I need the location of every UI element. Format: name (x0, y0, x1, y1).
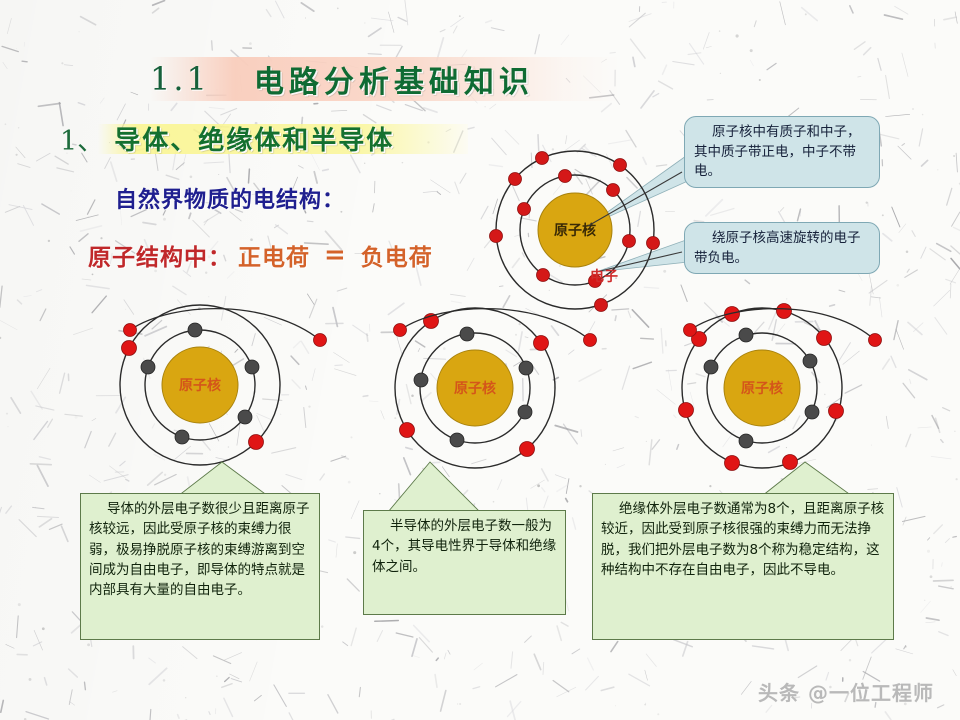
free-electron-path-left (130, 309, 320, 340)
equation-right-term: 负电荷 (361, 238, 433, 272)
orbit-inner (420, 333, 530, 443)
callout-nucleus-text: 原子核中有质子和中子，其中质子带正电，中子不带电。 (694, 123, 870, 182)
orbit-outer (682, 308, 842, 468)
subtitle-text: 自然界物质的电结构： (115, 182, 345, 214)
electron-label: 电子 (590, 266, 618, 286)
title-number: 1.1 (150, 60, 210, 98)
callout-electron-text: 绕原子核高速旋转的电子带负电。 (694, 229, 870, 268)
nucleus-label-top: 原子核 (554, 222, 596, 239)
watermark: 头条 @一位工程师 (758, 677, 934, 706)
free-electron-right-end (869, 334, 882, 347)
heading-text: 导体、绝缘体和半导体 (114, 120, 394, 157)
free-electron-mid-start (394, 324, 407, 337)
free-electron-right-start (684, 324, 697, 337)
orbit-outer (496, 151, 654, 309)
inner-electrons-insulator (704, 328, 819, 448)
callout-insulator-text: 绝缘体外层电子数通常为8个，且距离原子核较近，因此受到原子核很强的束缚力而无法挣… (601, 499, 885, 580)
atom-insulator: 原子核 (679, 304, 844, 471)
free-electron-mid-end (584, 334, 597, 347)
outer-electrons-insulator (679, 304, 844, 471)
outer-electrons-top (490, 152, 660, 312)
pointer-line-nucleus (588, 172, 682, 226)
callout-conductor-note[interactable]: 导体的外层电子数很少且距离原子核较远，因此受原子核的束缚力很弱，极易挣脱原子核的… (80, 493, 320, 640)
equation-prefix: 原子结构中： (88, 238, 232, 272)
nucleus-label-conductor: 原子核 (179, 377, 221, 394)
callout-leader-nucleus (588, 156, 690, 226)
free-electron-path-right (690, 309, 875, 340)
page-title: 1.1 电路分析基础知识 (150, 55, 670, 103)
callout-tail-conductor (178, 462, 268, 496)
outer-electrons-semiconductor (400, 314, 549, 457)
orbit-outer (120, 305, 280, 465)
equation-equals-sign: = (316, 240, 355, 270)
title-text: 电路分析基础知识 (254, 57, 534, 101)
atom-conductor: 原子核 (120, 305, 280, 465)
equation-left-term: 正电荷 (238, 238, 310, 272)
inner-electrons-semiconductor (414, 327, 533, 447)
charge-equation: 原子结构中： 正电荷 = 负电荷 (88, 238, 433, 272)
inner-electrons-conductor (141, 323, 259, 444)
section-heading: 1、 导体、绝缘体和半导体 (60, 118, 394, 158)
nucleus (538, 193, 612, 267)
callout-nucleus-note[interactable]: 原子核中有质子和中子，其中质子带正电，中子不带电。 (684, 116, 880, 188)
callout-electron-note[interactable]: 绕原子核高速旋转的电子带负电。 (684, 222, 880, 274)
heading-number: 1、 (60, 119, 104, 158)
callout-tail-semiconductor (388, 462, 480, 512)
free-electron-left-end (314, 334, 327, 347)
orbit-inner (145, 330, 255, 440)
callout-semiconductor-note[interactable]: 半导体的外层电子数一般为4个，其导电性界于导体和绝缘体之间。 (363, 510, 566, 615)
atom-top: 原子核 (490, 151, 660, 312)
callout-conductor-text: 导体的外层电子数很少且距离原子核较远，因此受原子核的束缚力很弱，极易挣脱原子核的… (89, 499, 311, 600)
nucleus (437, 350, 513, 426)
orbit-outer (395, 308, 555, 468)
atom-semiconductor: 原子核 (395, 308, 555, 468)
orbit-inner (707, 333, 817, 443)
callout-semiconductor-text: 半导体的外层电子数一般为4个，其导电性界于导体和绝缘体之间。 (372, 516, 557, 577)
nucleus (162, 347, 238, 423)
callout-insulator-note[interactable]: 绝缘体外层电子数通常为8个，且距离原子核较近，因此受到原子核很强的束缚力而无法挣… (592, 493, 894, 640)
nucleus-label-semiconductor: 原子核 (454, 380, 496, 397)
slide-canvas: 1.1 电路分析基础知识 1、 导体、绝缘体和半导体 自然界物质的电结构： 原子… (0, 0, 960, 720)
nucleus (724, 350, 800, 426)
free-electron-path-mid (400, 309, 590, 340)
callout-tail-insulator (762, 462, 852, 496)
outer-electrons-conductor (122, 341, 264, 450)
nucleus-label-insulator: 原子核 (741, 380, 783, 397)
free-electron-left-start (124, 324, 137, 337)
